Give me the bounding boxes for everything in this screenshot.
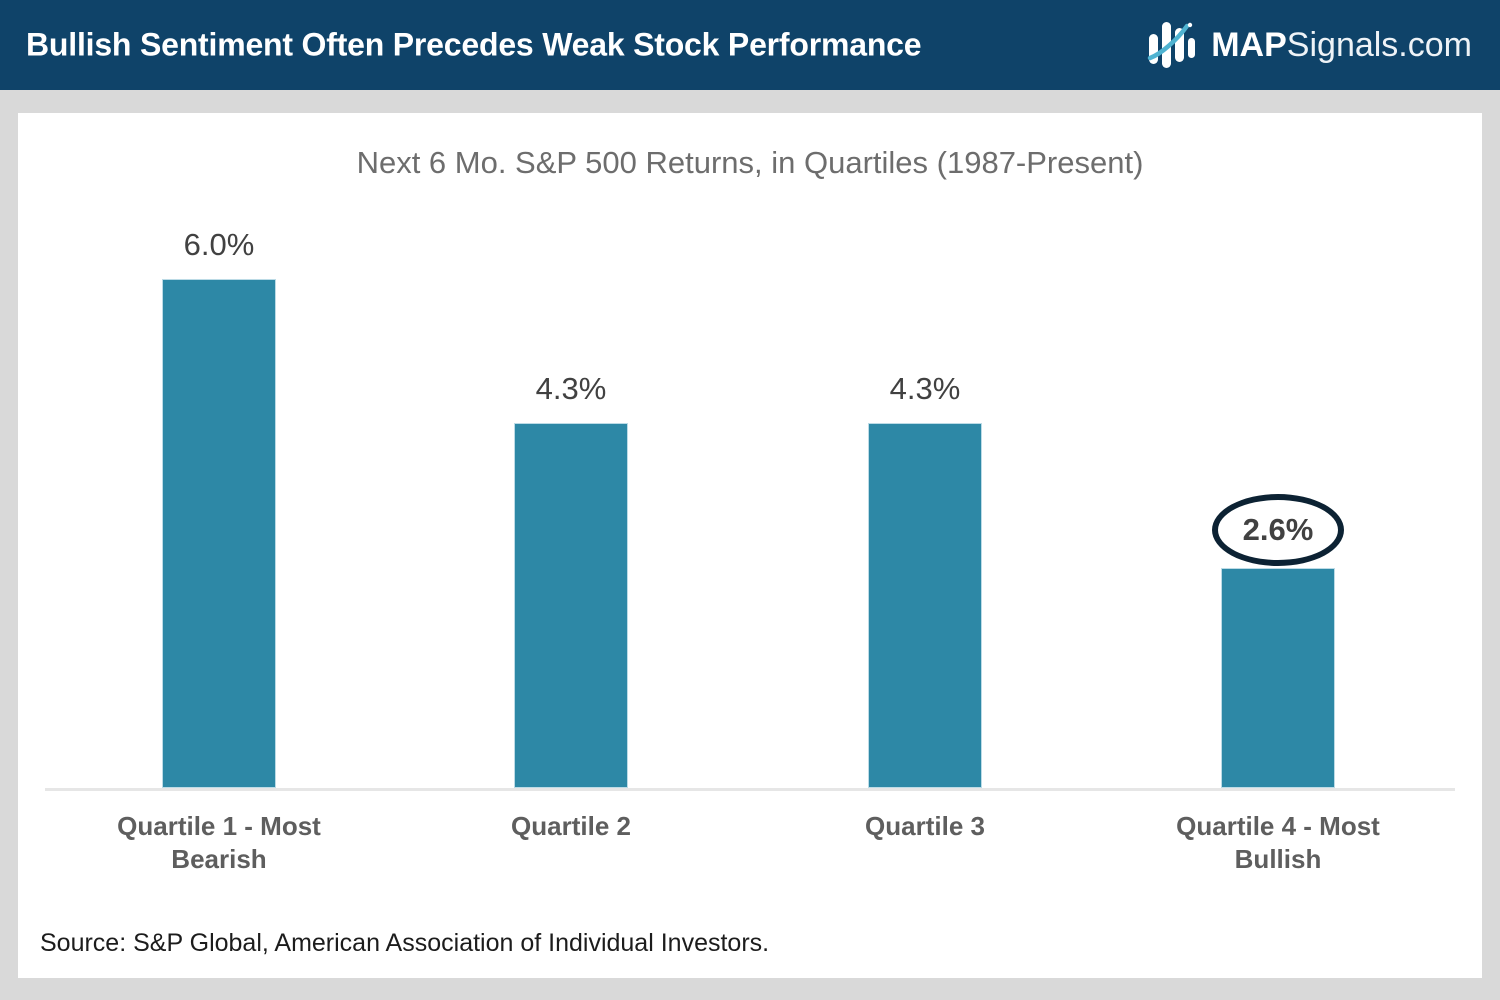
brand-name-bold: MAP (1211, 26, 1287, 64)
category-label-line-1: Quartile 3 (805, 810, 1045, 843)
bar-value-label-quartile-4: 2.6% (1212, 494, 1344, 566)
bar-quartile-2[interactable] (514, 423, 628, 788)
brand-logo: MAPSignals.com (1143, 14, 1472, 76)
source-note: Source: S&P Global, American Association… (40, 929, 769, 958)
category-label-quartile-1: Quartile 1 - Most Bearish (99, 810, 339, 875)
category-label-line-1: Quartile 1 - Most (99, 810, 339, 843)
category-label-quartile-3: Quartile 3 (805, 810, 1045, 843)
page-title: Bullish Sentiment Often Precedes Weak St… (26, 27, 921, 64)
category-label-quartile-4: Quartile 4 - Most Bullish (1158, 810, 1398, 875)
slide-canvas: Bullish Sentiment Often Precedes Weak St… (0, 0, 1500, 1000)
map-signals-bars-icon (1143, 14, 1205, 76)
category-label-line-2: Bearish (99, 843, 339, 876)
plot-area: 6.0% Quartile 1 - Most Bearish 4.3% Quar… (18, 113, 1482, 978)
bar-quartile-4[interactable] (1221, 568, 1335, 788)
category-label-line-2: Bullish (1158, 843, 1398, 876)
bar-value-label-quartile-1: 6.0% (162, 227, 276, 263)
brand-wordmark: MAPSignals.com (1211, 28, 1472, 62)
header-bar: Bullish Sentiment Often Precedes Weak St… (0, 0, 1500, 90)
x-axis-line (45, 788, 1455, 791)
bar-quartile-1[interactable] (162, 279, 276, 788)
chart-panel: Next 6 Mo. S&P 500 Returns, in Quartiles… (18, 113, 1482, 978)
category-label-line-1: Quartile 2 (451, 810, 691, 843)
brand-name-light: Signals.com (1287, 26, 1472, 64)
bar-value-label-quartile-2: 4.3% (514, 371, 628, 407)
bar-quartile-3[interactable] (868, 423, 982, 788)
category-label-line-1: Quartile 4 - Most (1158, 810, 1398, 843)
category-label-quartile-2: Quartile 2 (451, 810, 691, 843)
bar-value-label-quartile-3: 4.3% (868, 371, 982, 407)
